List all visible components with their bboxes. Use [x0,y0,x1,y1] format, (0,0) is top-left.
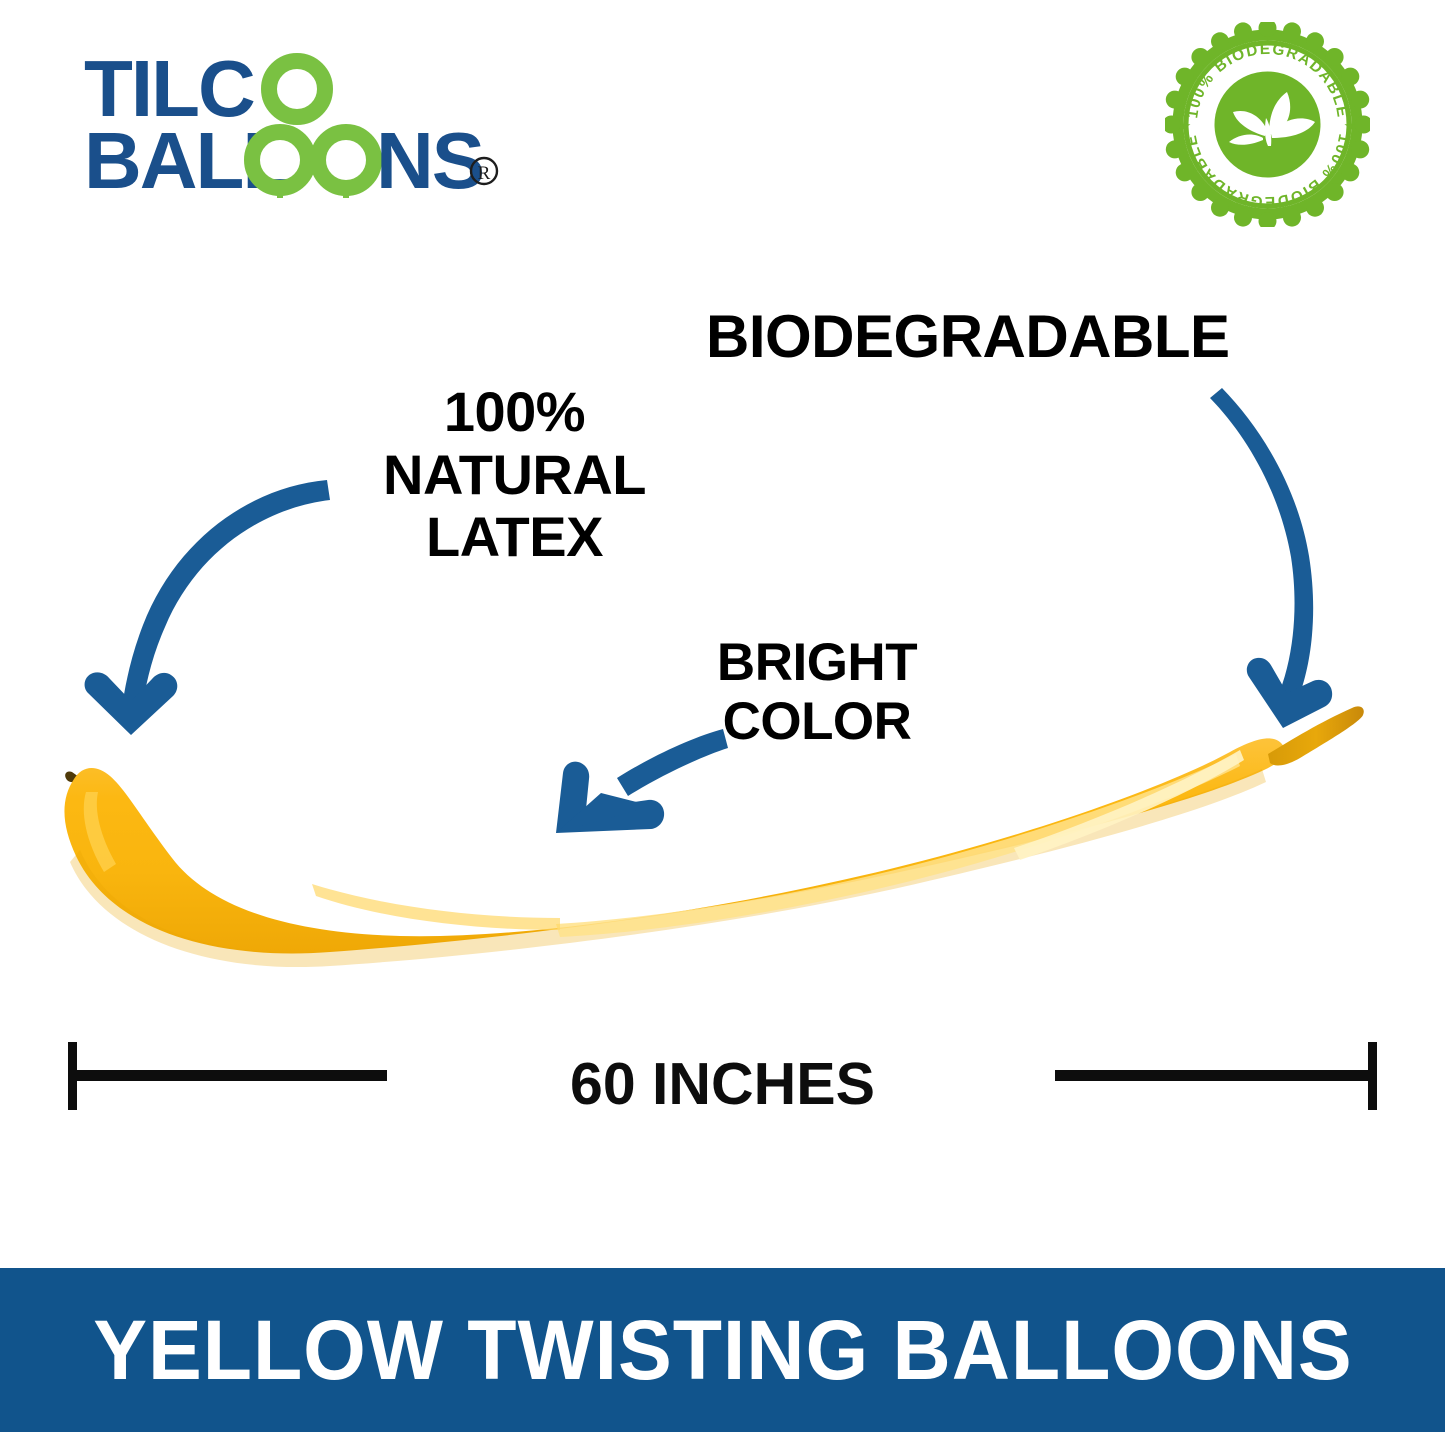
callout-label-biodegradable: BIODEGRADABLE [706,305,1230,369]
product-infographic: TILC BALL NS R [0,0,1445,1432]
balloon-left-tip [65,772,79,783]
svg-text:R: R [478,163,491,184]
product-title-banner: YELLOW TWISTING BALLOONS [0,1268,1445,1432]
balloon-nozzle [1268,706,1364,765]
brand-logo: TILC BALL NS R [84,48,524,198]
measurement-indicator: 60 INCHES [0,1034,1445,1144]
logo-balloon-o3 [318,132,374,188]
balloon-highlight-mid [312,884,560,930]
callout-label-natural-latex: 100% NATURAL LATEX [352,381,677,569]
balloon-highlight-left [84,792,116,872]
arrow-natural-latex-icon [85,480,330,735]
badge-star-left-icon: ★ [1180,118,1192,133]
biodegradable-badge: 100% BIODEGRADABLE 100% BIODEGRADABLE ★ … [1165,22,1370,227]
balloon-highlight-spec [1014,750,1244,860]
balloon-highlight-upper [556,754,1240,937]
measure-rule-right [1055,1070,1374,1081]
badge-star-right-icon: ★ [1344,118,1356,133]
measure-tick-right [1368,1042,1377,1110]
callout-label-bright-color: BRIGHT COLOR [672,633,962,752]
logo-text-ns: NS [376,116,483,198]
balloon-body [64,738,1284,953]
logo-balloon-o1 [269,61,325,117]
measure-label: 60 INCHES [0,1050,1445,1118]
arrow-biodegradable-icon [1210,388,1332,728]
product-title: YELLOW TWISTING BALLOONS [93,1302,1352,1399]
balloon-shadow [70,769,1266,967]
